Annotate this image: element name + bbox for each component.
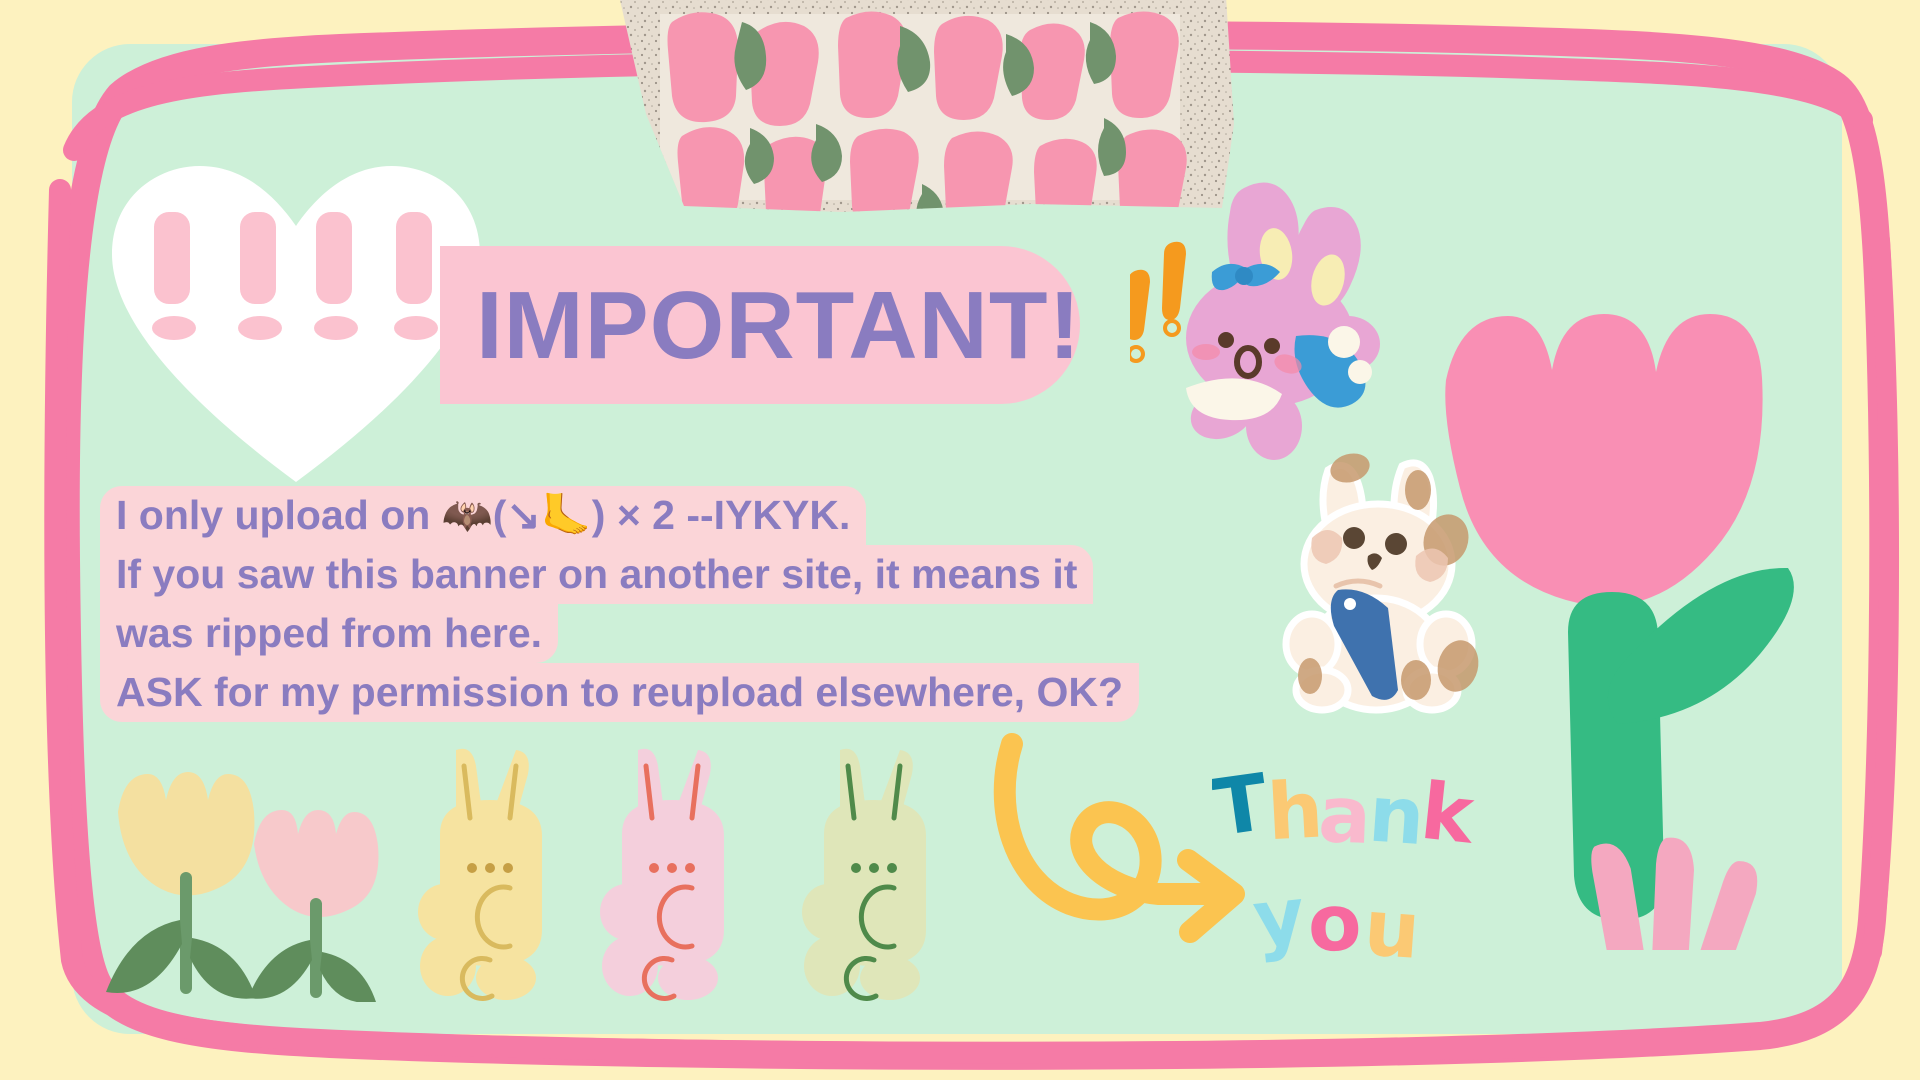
- gummy-bunny-yellow-icon: [398, 742, 588, 1004]
- heart-with-exclamations-icon: [96, 150, 496, 490]
- exclamation-marks-icon: [1130, 236, 1210, 366]
- gummy-bunny-pink-icon: [580, 742, 770, 1004]
- notice-line-1: I only upload on 🦇(↘🦶) × 2 --IYKYK.: [100, 486, 866, 545]
- svg-text:h: h: [1265, 765, 1325, 858]
- svg-text:T: T: [1212, 758, 1274, 854]
- svg-text:u: u: [1361, 883, 1423, 964]
- banner-canvas: IMPORTANT! I only upload on 🦇(↘🦶) × 2 --…: [0, 0, 1920, 1080]
- big-tulip-icon: [1430, 250, 1850, 950]
- page-title: IMPORTANT!: [476, 262, 1116, 390]
- svg-text:o: o: [1306, 878, 1363, 964]
- gummy-bunny-green-icon: [782, 742, 972, 1004]
- notice-text-block: I only upload on 🦇(↘🦶) × 2 --IYKYK. If y…: [100, 486, 1170, 722]
- svg-text:a: a: [1317, 770, 1373, 862]
- svg-text:y: y: [1249, 871, 1309, 964]
- notice-line-3: was ripped from here.: [100, 604, 558, 663]
- tulip-pink-icon: [228, 790, 408, 1002]
- notice-line-2: If you saw this banner on another site, …: [100, 545, 1093, 604]
- notice-line-4: ASK for my permission to reupload elsewh…: [100, 663, 1139, 722]
